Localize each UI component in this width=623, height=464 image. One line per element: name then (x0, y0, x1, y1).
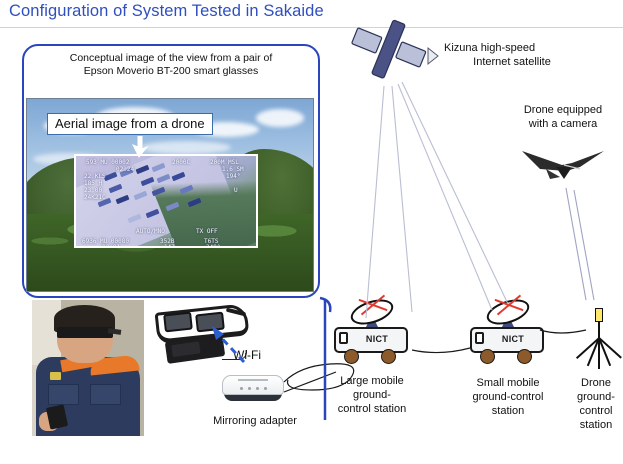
caption-line-1: Conceptual image of the view from a pair… (26, 52, 316, 65)
overlay-bottom-right: TX OFF (196, 228, 218, 235)
overlay-top-right: 200M MSL (210, 159, 239, 166)
label-line: ground-control (455, 390, 561, 404)
tower-to-van-cable (540, 330, 586, 333)
small-station-label: Small mobile ground-control station (455, 376, 561, 418)
overlay-top-left-2: 02:24 (116, 166, 134, 173)
van-org-label: NICT (354, 334, 400, 344)
overlay-top-right-3: 194° (226, 173, 240, 180)
concept-panel-caption: Conceptual image of the view from a pair… (26, 52, 316, 78)
overlay-left-4: 24K21C (84, 194, 106, 201)
diagram-canvas: Configuration of System Tested in Sakaid… (0, 0, 623, 464)
overlay-top-left: 593 MU 00002 (86, 159, 129, 166)
mirroring-adapter-icon (222, 375, 284, 403)
overlay-bottom-center: AUTO/MNO (136, 228, 165, 235)
small-mobile-station-van: NICT (470, 315, 544, 357)
satellite-icon (352, 20, 426, 79)
glasses-temple (108, 328, 122, 335)
router-brand-mark (238, 379, 268, 381)
worn-smart-glasses-icon (57, 327, 113, 338)
label-line: ground- (323, 388, 421, 402)
overlay-bottom-right-3: 249° (206, 244, 220, 248)
overlay-left-2: 185 H (84, 180, 102, 187)
router-led (248, 387, 251, 390)
overlay-top-right-2: 1.6 SM (222, 166, 244, 173)
overlay-right-1: U (234, 187, 238, 194)
satellite-label-pointer (428, 48, 438, 64)
label-line: Small mobile (455, 376, 561, 390)
handheld-controller (46, 404, 68, 429)
van-wheel (480, 349, 495, 364)
label-line: station (455, 404, 561, 418)
page-title: Configuration of System Tested in Sakaid… (9, 2, 324, 21)
drone-label: Drone equipped with a camera (508, 103, 618, 131)
drone-radio-link (566, 188, 594, 300)
title-divider (0, 27, 623, 28)
large-station-label: Large mobile ground- control station (323, 374, 421, 416)
label-line: Large mobile (323, 374, 421, 388)
glasses-lens-right (195, 312, 225, 333)
label-line: control (569, 404, 623, 418)
drone-aircraft-icon (522, 151, 604, 179)
overlay-top-center: 2000C (172, 159, 190, 166)
router-led (240, 387, 243, 390)
ar-callout-arrow (126, 136, 152, 158)
overlay-left-1: 22 KLS (84, 173, 106, 180)
mirroring-adapter-label: Mirroring adapter (188, 414, 322, 428)
router-led (264, 387, 267, 390)
van-wheel (344, 349, 359, 364)
operator-photo (32, 300, 144, 436)
drone-video-feed: 593 MU 00002 02:24 2000C 200M MSL 1.6 SM… (74, 154, 258, 248)
overlay-left-3: 23.00 (84, 187, 102, 194)
label-line: with a camera (508, 117, 618, 131)
overlay-bottom-left-2: 02:01 (102, 244, 120, 248)
glasses-lens-left (163, 312, 193, 333)
ar-callout-label: Aerial image from a drone (47, 113, 213, 135)
controller-screen (171, 341, 200, 357)
cloud-icon (256, 109, 304, 127)
label-line: Internet satellite (444, 55, 580, 69)
drone-ground-antenna-icon (586, 308, 612, 370)
van-org-label: NICT (490, 334, 536, 344)
caption-line-2: Epson Moverio BT-200 smart glasses (26, 65, 316, 78)
drone-station-label: Drone ground- control station (569, 376, 623, 432)
panel-connector-curve (320, 298, 330, 312)
label-line: control station (323, 402, 421, 416)
router-led (256, 387, 259, 390)
satellite-label: Kizuna high-speed Internet satellite (444, 41, 580, 69)
van-wheel (381, 349, 396, 364)
label-line: Drone (569, 376, 623, 390)
overlay-bottom-mid-2: 147 (164, 244, 175, 248)
van-to-van-cable (412, 348, 470, 353)
antenna-leg (576, 337, 599, 358)
wifi-label: Wi-Fi (215, 348, 279, 362)
uniform-pocket (48, 384, 79, 405)
satellite-beam-lines (366, 82, 508, 318)
uniform-pocket (90, 384, 121, 405)
label-line: Kizuna high-speed (444, 41, 580, 55)
label-line: Drone equipped (508, 103, 618, 117)
uniform-badge (50, 372, 61, 380)
large-mobile-station-van: NICT (334, 315, 408, 357)
van-window (475, 332, 484, 344)
label-line: ground- (569, 390, 623, 404)
antenna-mast (598, 321, 600, 369)
label-line: station (569, 418, 623, 432)
van-wheel (517, 349, 532, 364)
antenna-radio-box (595, 308, 603, 322)
router-shell (222, 375, 284, 395)
van-window (339, 332, 348, 344)
